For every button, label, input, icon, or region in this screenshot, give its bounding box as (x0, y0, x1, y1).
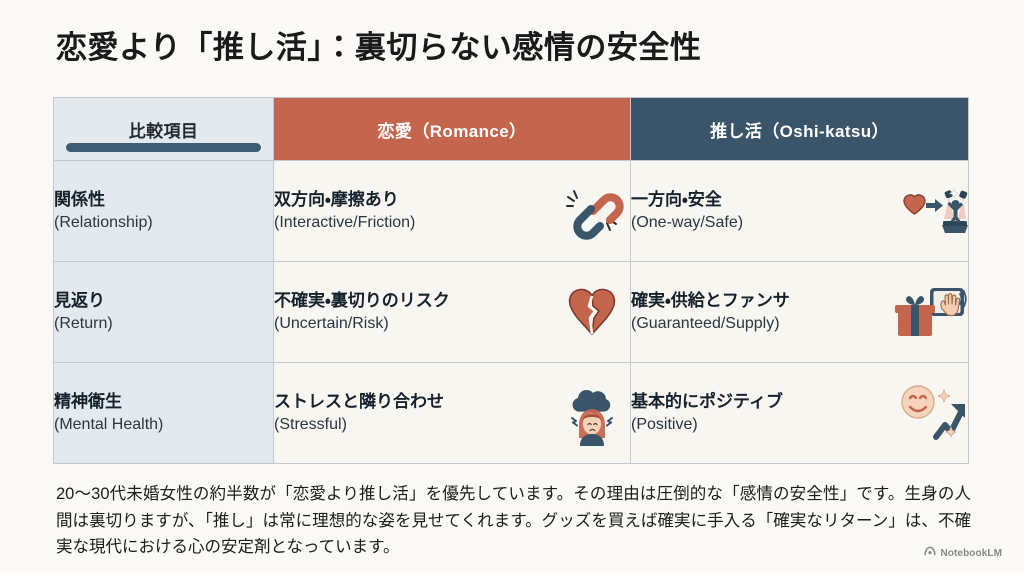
cell-text-en: (Guaranteed/Supply) (631, 313, 790, 336)
gift-tablet-wave-icon (892, 277, 968, 347)
row-label-mental-health: 精神衛生 (Mental Health) (54, 363, 274, 464)
cell-oshi-relationship: 一方向・安全 (One-way/Safe) (631, 161, 969, 262)
cell-text-jp: 不確実・裏切りのリスク (274, 289, 450, 313)
header-label-criteria: 比較項目 (129, 122, 199, 141)
comparison-table: 比較項目 恋愛（Romance） 推し活（Oshi-katsu） 関係性 (Re… (53, 97, 969, 464)
cell-text-en: (Interactive/Friction) (274, 212, 415, 235)
smiley-uptrend-sparkle-icon (892, 378, 968, 448)
cell-romance-relationship: 双方向・摩擦あり (Interactive/Friction) (274, 161, 631, 262)
cell-text-en: (Positive) (631, 414, 783, 437)
row-label-return: 見返り (Return) (54, 262, 274, 363)
broken-heart-icon (554, 277, 630, 347)
stressed-person-stormcloud-icon (554, 378, 630, 448)
broken-chain-link-icon (554, 176, 630, 246)
cell-romance-mental-health: ストレスと隣り合わせ (Stressful) (274, 363, 631, 464)
cell-text-jp: 双方向・摩擦あり (274, 188, 415, 212)
row-label-relationship: 関係性 (Relationship) (54, 161, 274, 262)
row-label-jp: 見返り (54, 289, 273, 313)
cell-oshi-mental-health: 基本的にポジティブ (Positive) (631, 363, 969, 464)
accent-bar (66, 143, 261, 152)
header-cell-oshi: 推し活（Oshi-katsu） (631, 98, 969, 161)
header-label-oshi: 推し活（Oshi-katsu） (710, 122, 889, 141)
table-row: 見返り (Return) 不確実・裏切りのリスク (Uncertain/Risk… (54, 262, 969, 363)
summary-caption: 20〜30代未婚女性の約半数が「恋愛より推し活」を優先しています。その理由は圧倒… (56, 481, 971, 561)
cell-text-jp: 一方向・安全 (631, 188, 743, 212)
cell-text-jp: ストレスと隣り合わせ (274, 390, 444, 414)
cell-oshi-return: 確実・供給とファンサ (Guaranteed/Supply) (631, 262, 969, 363)
cell-text-en: (One-way/Safe) (631, 212, 743, 235)
table-row: 精神衛生 (Mental Health) ストレスと隣り合わせ (Stressf… (54, 363, 969, 464)
header-label-romance: 恋愛（Romance） (378, 122, 527, 141)
heart-arrow-performer-icon (892, 176, 968, 246)
table-row: 関係性 (Relationship) 双方向・摩擦あり (Interactive… (54, 161, 969, 262)
row-label-jp: 精神衛生 (54, 390, 273, 414)
cell-text-jp: 基本的にポジティブ (631, 390, 783, 414)
page-title: 恋愛より「推し活」：裏切らない感情の安全性 (56, 22, 701, 67)
header-cell-romance: 恋愛（Romance） (274, 98, 631, 161)
watermark: NotebookLM (924, 544, 1002, 562)
table-header-row: 比較項目 恋愛（Romance） 推し活（Oshi-katsu） (54, 98, 969, 161)
row-label-jp: 関係性 (54, 188, 273, 212)
cell-text-en: (Uncertain/Risk) (274, 313, 450, 336)
cell-text-en: (Stressful) (274, 414, 444, 437)
cell-romance-return: 不確実・裏切りのリスク (Uncertain/Risk) (274, 262, 631, 363)
notebooklm-logo-icon (924, 544, 936, 562)
row-label-en: (Mental Health) (54, 414, 273, 437)
row-label-en: (Return) (54, 313, 273, 336)
watermark-label: NotebookLM (940, 548, 1002, 559)
row-label-en: (Relationship) (54, 212, 273, 235)
header-cell-criteria: 比較項目 (54, 98, 274, 161)
cell-text-jp: 確実・供給とファンサ (631, 289, 790, 313)
